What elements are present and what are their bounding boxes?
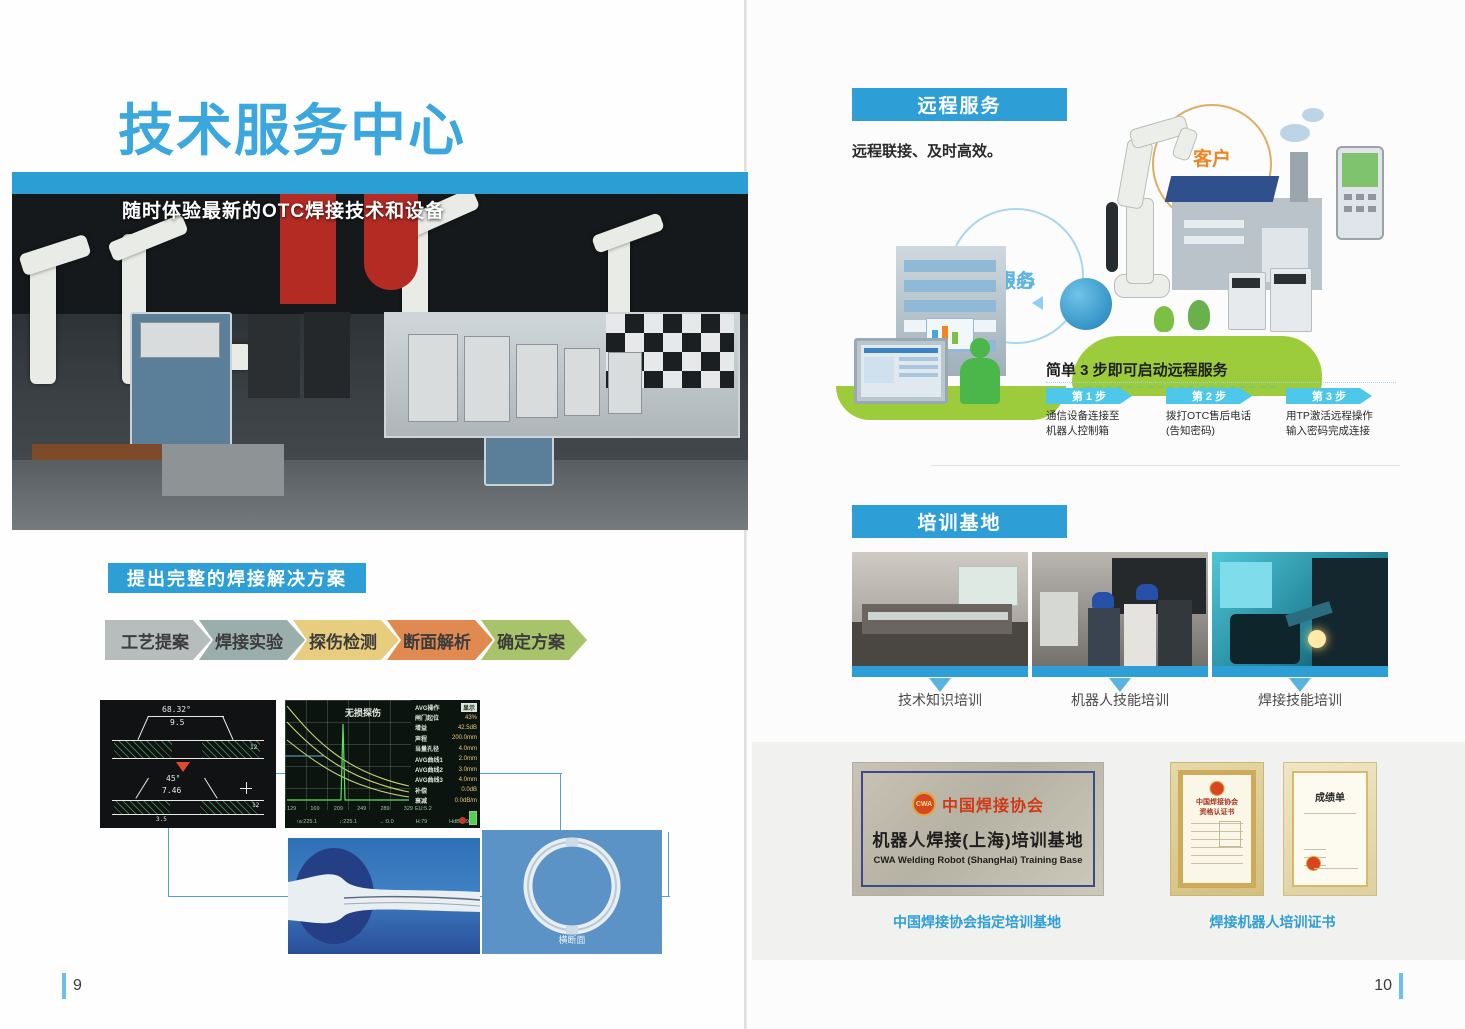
plaque-association-row: CWA 中国焊接协会: [912, 792, 1044, 816]
process-step-3[interactable]: 探伤检测: [293, 620, 399, 660]
cad-thickness-top: 12: [250, 744, 257, 751]
cwa-seal-icon: CWA: [912, 792, 936, 816]
flaw-detector-screen: 无损探伤 AVG操作 显示 闸门起位43% 增益42.5dB 声程200.0mm…: [285, 700, 480, 828]
cad-thickness-bottom: 12: [252, 802, 259, 809]
teach-pendant-icon: [1336, 146, 1384, 240]
training-photo-2: [1032, 552, 1208, 677]
certificates-caption: 焊接机器人培训证书: [1170, 912, 1375, 932]
robot-arm-illustration: [1088, 106, 1184, 306]
training-base-plaque: CWA 中国焊接协会 机器人焊接(上海)培训基地 CWA Welding Rob…: [852, 762, 1104, 896]
score-certificate: 成绩单: [1283, 762, 1377, 896]
param-row: AVG曲线23.0mm: [413, 764, 479, 774]
cad-angle-bottom: 45°: [166, 774, 180, 783]
remote-step-2[interactable]: 第 2 步 拨打OTC售后电话 (告知密码): [1166, 388, 1286, 439]
cad-width-bottom: 7.46: [162, 786, 181, 795]
flaw-detector-curves: [285, 700, 411, 810]
remote-steps: 第 1 步 通信设备连接至 机器人控制箱 第 2 步 拨打OTC售后电话 (告知…: [1046, 388, 1406, 439]
record-icon: [459, 817, 466, 824]
process-step-1[interactable]: 工艺提案: [105, 620, 211, 660]
training-photo-1: [852, 552, 1028, 677]
training-caption-3: 焊接技能培训: [1212, 690, 1388, 710]
param-row: 声程200.0mm: [413, 733, 479, 743]
cad-width-top: 9.5: [170, 718, 184, 727]
page-bar-icon: [62, 973, 66, 999]
param-row: 当量孔径4.0mm: [413, 744, 479, 754]
monitor-icon: [854, 338, 948, 404]
process-step-5[interactable]: 确定方案: [481, 620, 587, 660]
cad-angle-top: 68.32°: [162, 705, 191, 714]
hero-top-band: [12, 172, 748, 194]
param-row: AVG曲线34.0mm: [413, 775, 479, 785]
cad-section-marker: [176, 762, 190, 772]
plaque-english-title: CWA Welding Robot (ShangHai) Training Ba…: [873, 855, 1082, 866]
connector-line-4: [168, 896, 290, 897]
param-row: 衰减0.0dB/m: [413, 796, 479, 806]
cert-seal-icon: [1210, 781, 1225, 796]
cad-depth: 3.5: [156, 816, 167, 823]
training-base-tag: 培训基地: [852, 505, 1067, 538]
weld-cad-drawing: 68.32° 9.5 12 45° 7.46 12 3.5: [100, 700, 276, 828]
plaque-caption: 中国焊接协会指定培训基地: [852, 912, 1102, 932]
ring-caption: 横断面: [482, 933, 662, 946]
remote-service-illustration: 服务 中心 客户: [836, 86, 1426, 406]
flaw-detector-parameters: AVG操作 显示 闸门起位43% 增益42.5dB 声程200.0mm 当量孔径…: [413, 702, 479, 806]
page-title: 技术服务中心: [118, 103, 466, 159]
solution-section-tag: 提出完整的焊接解决方案: [108, 563, 366, 593]
ring-cross-section-photo: 横断面: [482, 830, 662, 954]
hero-photo-image: [12, 194, 748, 530]
remote-step-3[interactable]: 第 3 步 用TP激活远程操作 输入密码完成连接: [1286, 388, 1406, 439]
plaque-association: 中国焊接协会: [942, 792, 1044, 816]
brochure-spread: 技术服务中心: [0, 0, 1465, 1029]
step-2-text: 拨打OTC售后电话 (告知密码): [1166, 409, 1286, 439]
hero-caption: 随时体验最新的OTC焊接技术和设备: [122, 196, 445, 223]
person-icon: [958, 338, 1002, 404]
param-row: 补偿0.0dB: [413, 785, 479, 795]
step-3-text: 用TP激活远程操作 输入密码完成连接: [1286, 409, 1406, 439]
connector-line-2: [560, 773, 561, 831]
param-row-mode: AVG操作 显示: [413, 702, 479, 712]
connector-line-6: [668, 832, 669, 896]
hero-photo: [12, 172, 748, 530]
flaw-detector-axis: 129 169 209 249 289 329: [285, 806, 415, 812]
step-1-tag: 第 1 步: [1046, 388, 1132, 404]
training-caption-2: 机器人技能培训: [1032, 690, 1208, 710]
battery-icon: [469, 811, 477, 825]
page-number-left: 9: [62, 973, 82, 999]
data-flow-arrow: [1032, 296, 1043, 310]
plaque-main-title: 机器人焊接(上海)培训基地: [872, 826, 1083, 851]
tree-icon-1: [1188, 300, 1210, 330]
flaw-detector-eu: EU:5.2: [415, 806, 432, 812]
weld-macro-photo: [288, 838, 480, 954]
qualification-certificate: 中国焊接协会 资格认证书: [1170, 762, 1264, 896]
flaw-detector-footer: ↑a:225.1 ↓:225.1 →:0.0 H:79 HdB:5.9: [285, 819, 480, 825]
process-flow: 工艺提案 焊接实验 探伤检测 断面解析 确定方案: [105, 620, 575, 660]
process-step-4[interactable]: 断面解析: [387, 620, 493, 660]
step-1-text: 通信设备连接至 机器人控制箱: [1046, 409, 1166, 439]
param-mode-value: 显示: [461, 703, 477, 712]
param-row: 增益42.5dB: [413, 723, 479, 733]
tree-icon-2: [1154, 306, 1174, 332]
page-bar-icon: [1399, 973, 1403, 999]
remote-step-1[interactable]: 第 1 步 通信设备连接至 机器人控制箱: [1046, 388, 1166, 439]
training-caption-1: 技术知识培训: [852, 690, 1028, 710]
steps-divider: [1046, 382, 1396, 383]
steps-heading: 简单 3 步即可启动远程服务: [1046, 359, 1228, 380]
param-row: 闸门起位43%: [413, 712, 479, 722]
page-number-right: 10: [1374, 973, 1403, 999]
step-2-tag: 第 2 步: [1166, 388, 1252, 404]
process-step-2[interactable]: 焊接实验: [199, 620, 305, 660]
training-photo-3: [1212, 552, 1388, 677]
step-3-tag: 第 3 步: [1286, 388, 1372, 404]
section-divider: [930, 465, 1400, 466]
param-row: AVG曲线12.0mm: [413, 754, 479, 764]
